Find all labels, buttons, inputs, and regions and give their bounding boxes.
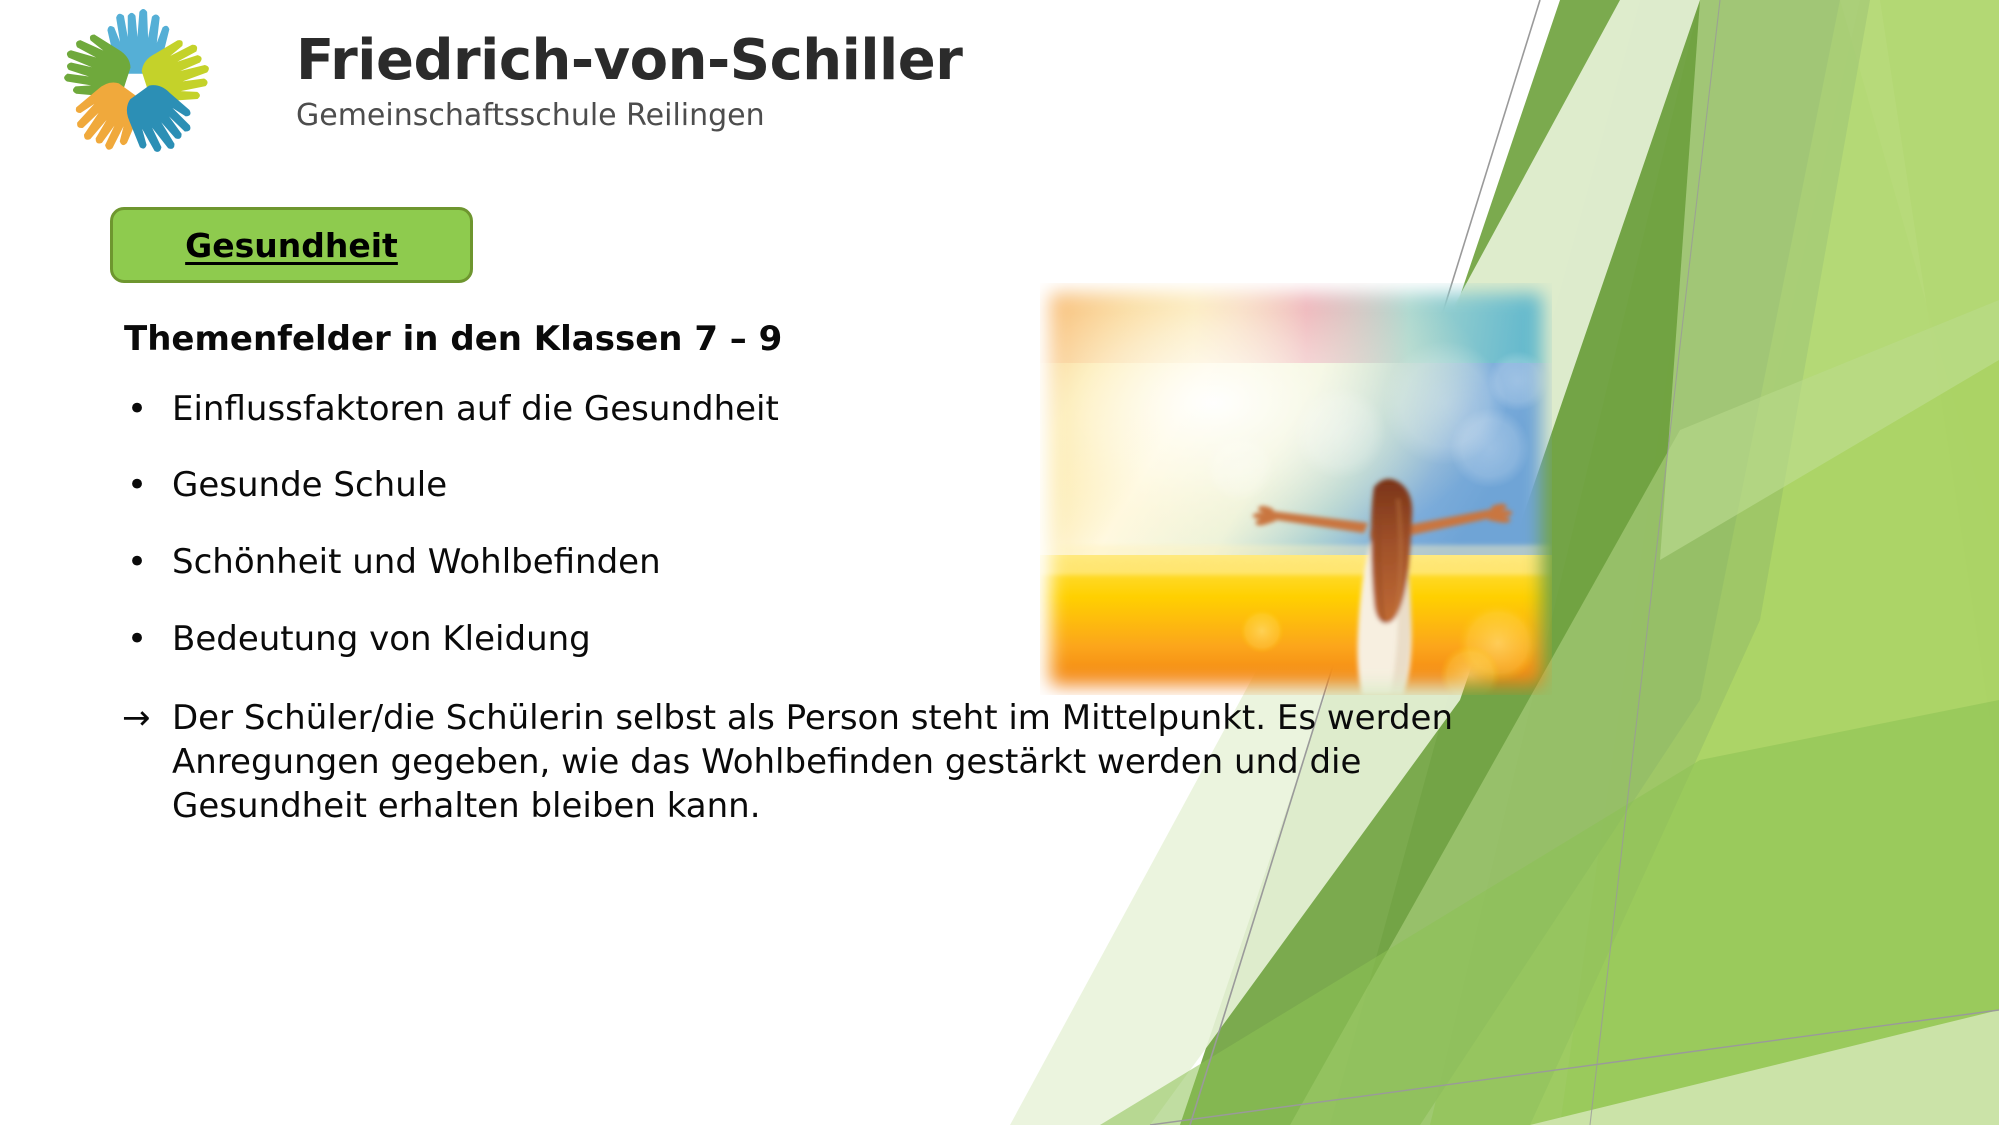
school-logo: Friedrich-von-Schiller Gemeinschaftsschu…: [38, 8, 988, 158]
bullet-icon: •: [127, 465, 147, 506]
woman-in-sunlit-field-photo: [1040, 283, 1552, 695]
deco-hairline-3: [1590, 0, 1720, 1125]
five-hands-circle-logo-icon: [38, 8, 233, 158]
bullet-icon: •: [127, 389, 147, 430]
conclusion-paragraph: → Der Schüler/die Schülerin selbst als P…: [124, 696, 1492, 829]
list-item-label: Gesunde Schule: [172, 465, 447, 505]
bokeh-circle: [1206, 434, 1274, 502]
list-item-label: Bedeutung von Kleidung: [172, 619, 591, 659]
topic-badge-label: Gesundheit: [185, 226, 398, 265]
bokeh-circle-warm: [1240, 609, 1284, 653]
deco-shape-pale-wedge: [1660, 0, 1999, 560]
bullet-icon: •: [127, 542, 147, 583]
bullet-icon: •: [127, 619, 147, 660]
school-name: Friedrich-von-Schiller: [296, 32, 986, 91]
bokeh-circle: [1294, 387, 1386, 479]
deco-shape-bright-right-2: [1560, 0, 1999, 1125]
list-item-label: Einflussfaktoren auf die Gesundheit: [172, 389, 779, 429]
conclusion-text: Der Schüler/die Schülerin selbst als Per…: [172, 698, 1453, 826]
right-arrow-icon: →: [122, 696, 151, 740]
deco-hairline-2: [1150, 1010, 1999, 1125]
bokeh-circle: [1488, 351, 1548, 411]
bokeh-circle: [1450, 408, 1530, 488]
deco-shape-bright-right: [1610, 0, 1999, 1125]
presentation-slide: Friedrich-von-Schiller Gemeinschaftsschu…: [0, 0, 1999, 1125]
topic-badge-gesundheit[interactable]: Gesundheit: [110, 207, 473, 283]
school-logo-text: Friedrich-von-Schiller Gemeinschaftsschu…: [296, 32, 986, 132]
list-item-label: Schönheit und Wohlbefinden: [172, 542, 661, 582]
school-subtitle: Gemeinschaftsschule Reilingen: [296, 99, 986, 132]
deco-shape-bottom-pale: [1530, 1010, 1999, 1125]
